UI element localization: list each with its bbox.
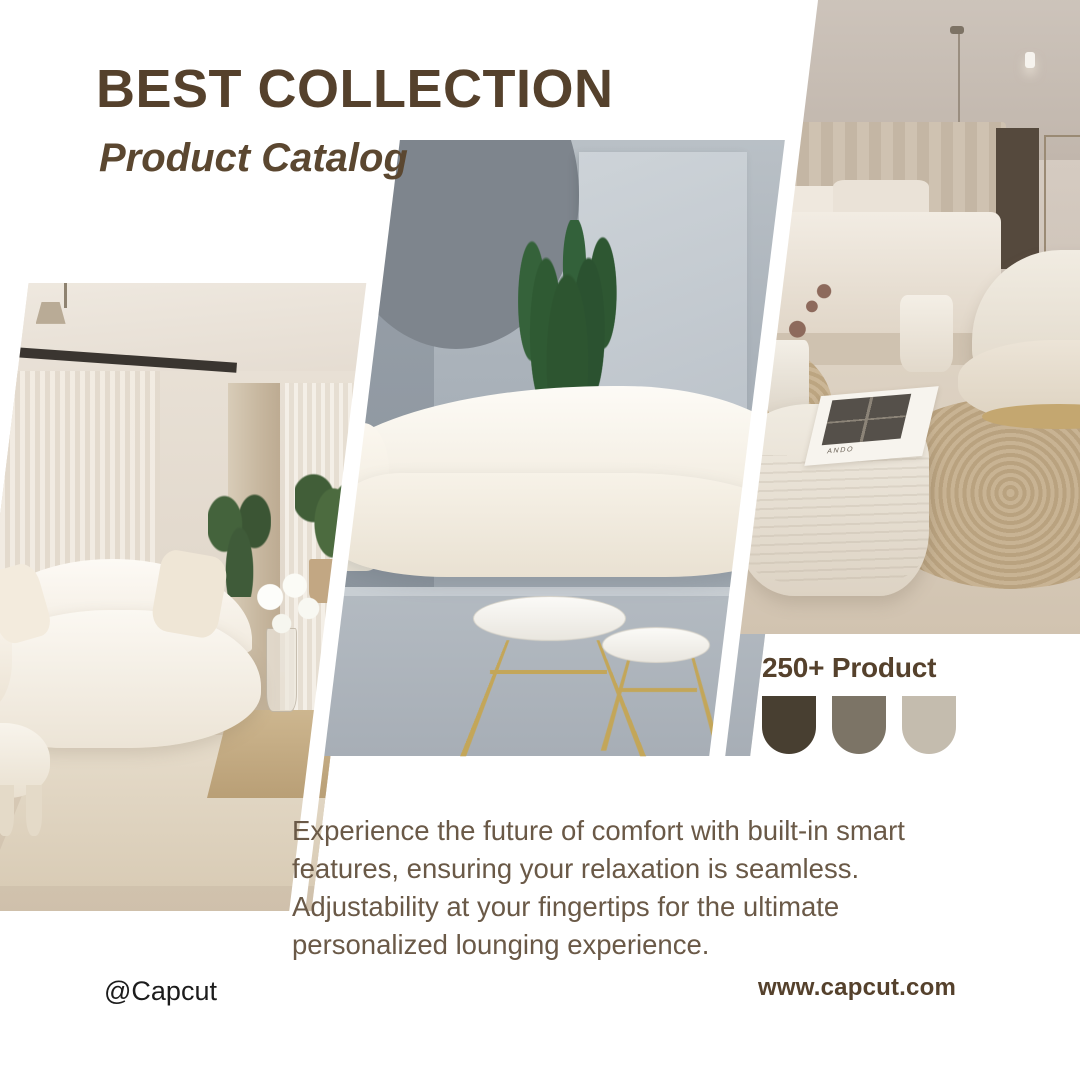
ottoman-leg — [0, 785, 13, 835]
website-url[interactable]: www.capcut.com — [758, 974, 956, 1002]
color-swatch-3[interactable] — [902, 696, 956, 754]
pendant-cord — [64, 283, 67, 308]
color-swatch-2[interactable] — [832, 696, 886, 754]
spot-light — [1025, 52, 1035, 68]
page-subtitle: Product Catalog — [99, 138, 408, 178]
stone-table-texture — [737, 455, 929, 583]
color-swatch-row — [762, 696, 956, 754]
description-block: Experience the future of comfort with bu… — [292, 812, 968, 964]
lily-flowers — [247, 559, 324, 653]
product-count-block: 250+ Product — [762, 652, 956, 754]
headboard-shadow — [996, 128, 1039, 269]
pendant-mount — [950, 26, 964, 34]
bedroom-scene: ANDO — [729, 0, 1080, 634]
bedroom-photo: ANDO — [729, 0, 1080, 634]
page-title: BEST COLLECTION — [96, 62, 614, 116]
coffee-table-crossbar — [490, 670, 608, 674]
social-handle[interactable]: @Capcut — [104, 976, 217, 1007]
ceramic-stool — [900, 295, 953, 372]
side-table-crossbar — [618, 688, 696, 692]
description-text: Experience the future of comfort with bu… — [292, 812, 968, 964]
book-cover-art — [822, 394, 911, 445]
marble-side-table — [602, 627, 710, 663]
marble-coffee-table — [473, 596, 626, 641]
poster-canvas: BEST COLLECTION Product Catalog — [0, 0, 1080, 1080]
product-count-label: 250+ Product — [762, 652, 956, 684]
color-swatch-1[interactable] — [762, 696, 816, 754]
ottoman-leg — [26, 785, 42, 835]
